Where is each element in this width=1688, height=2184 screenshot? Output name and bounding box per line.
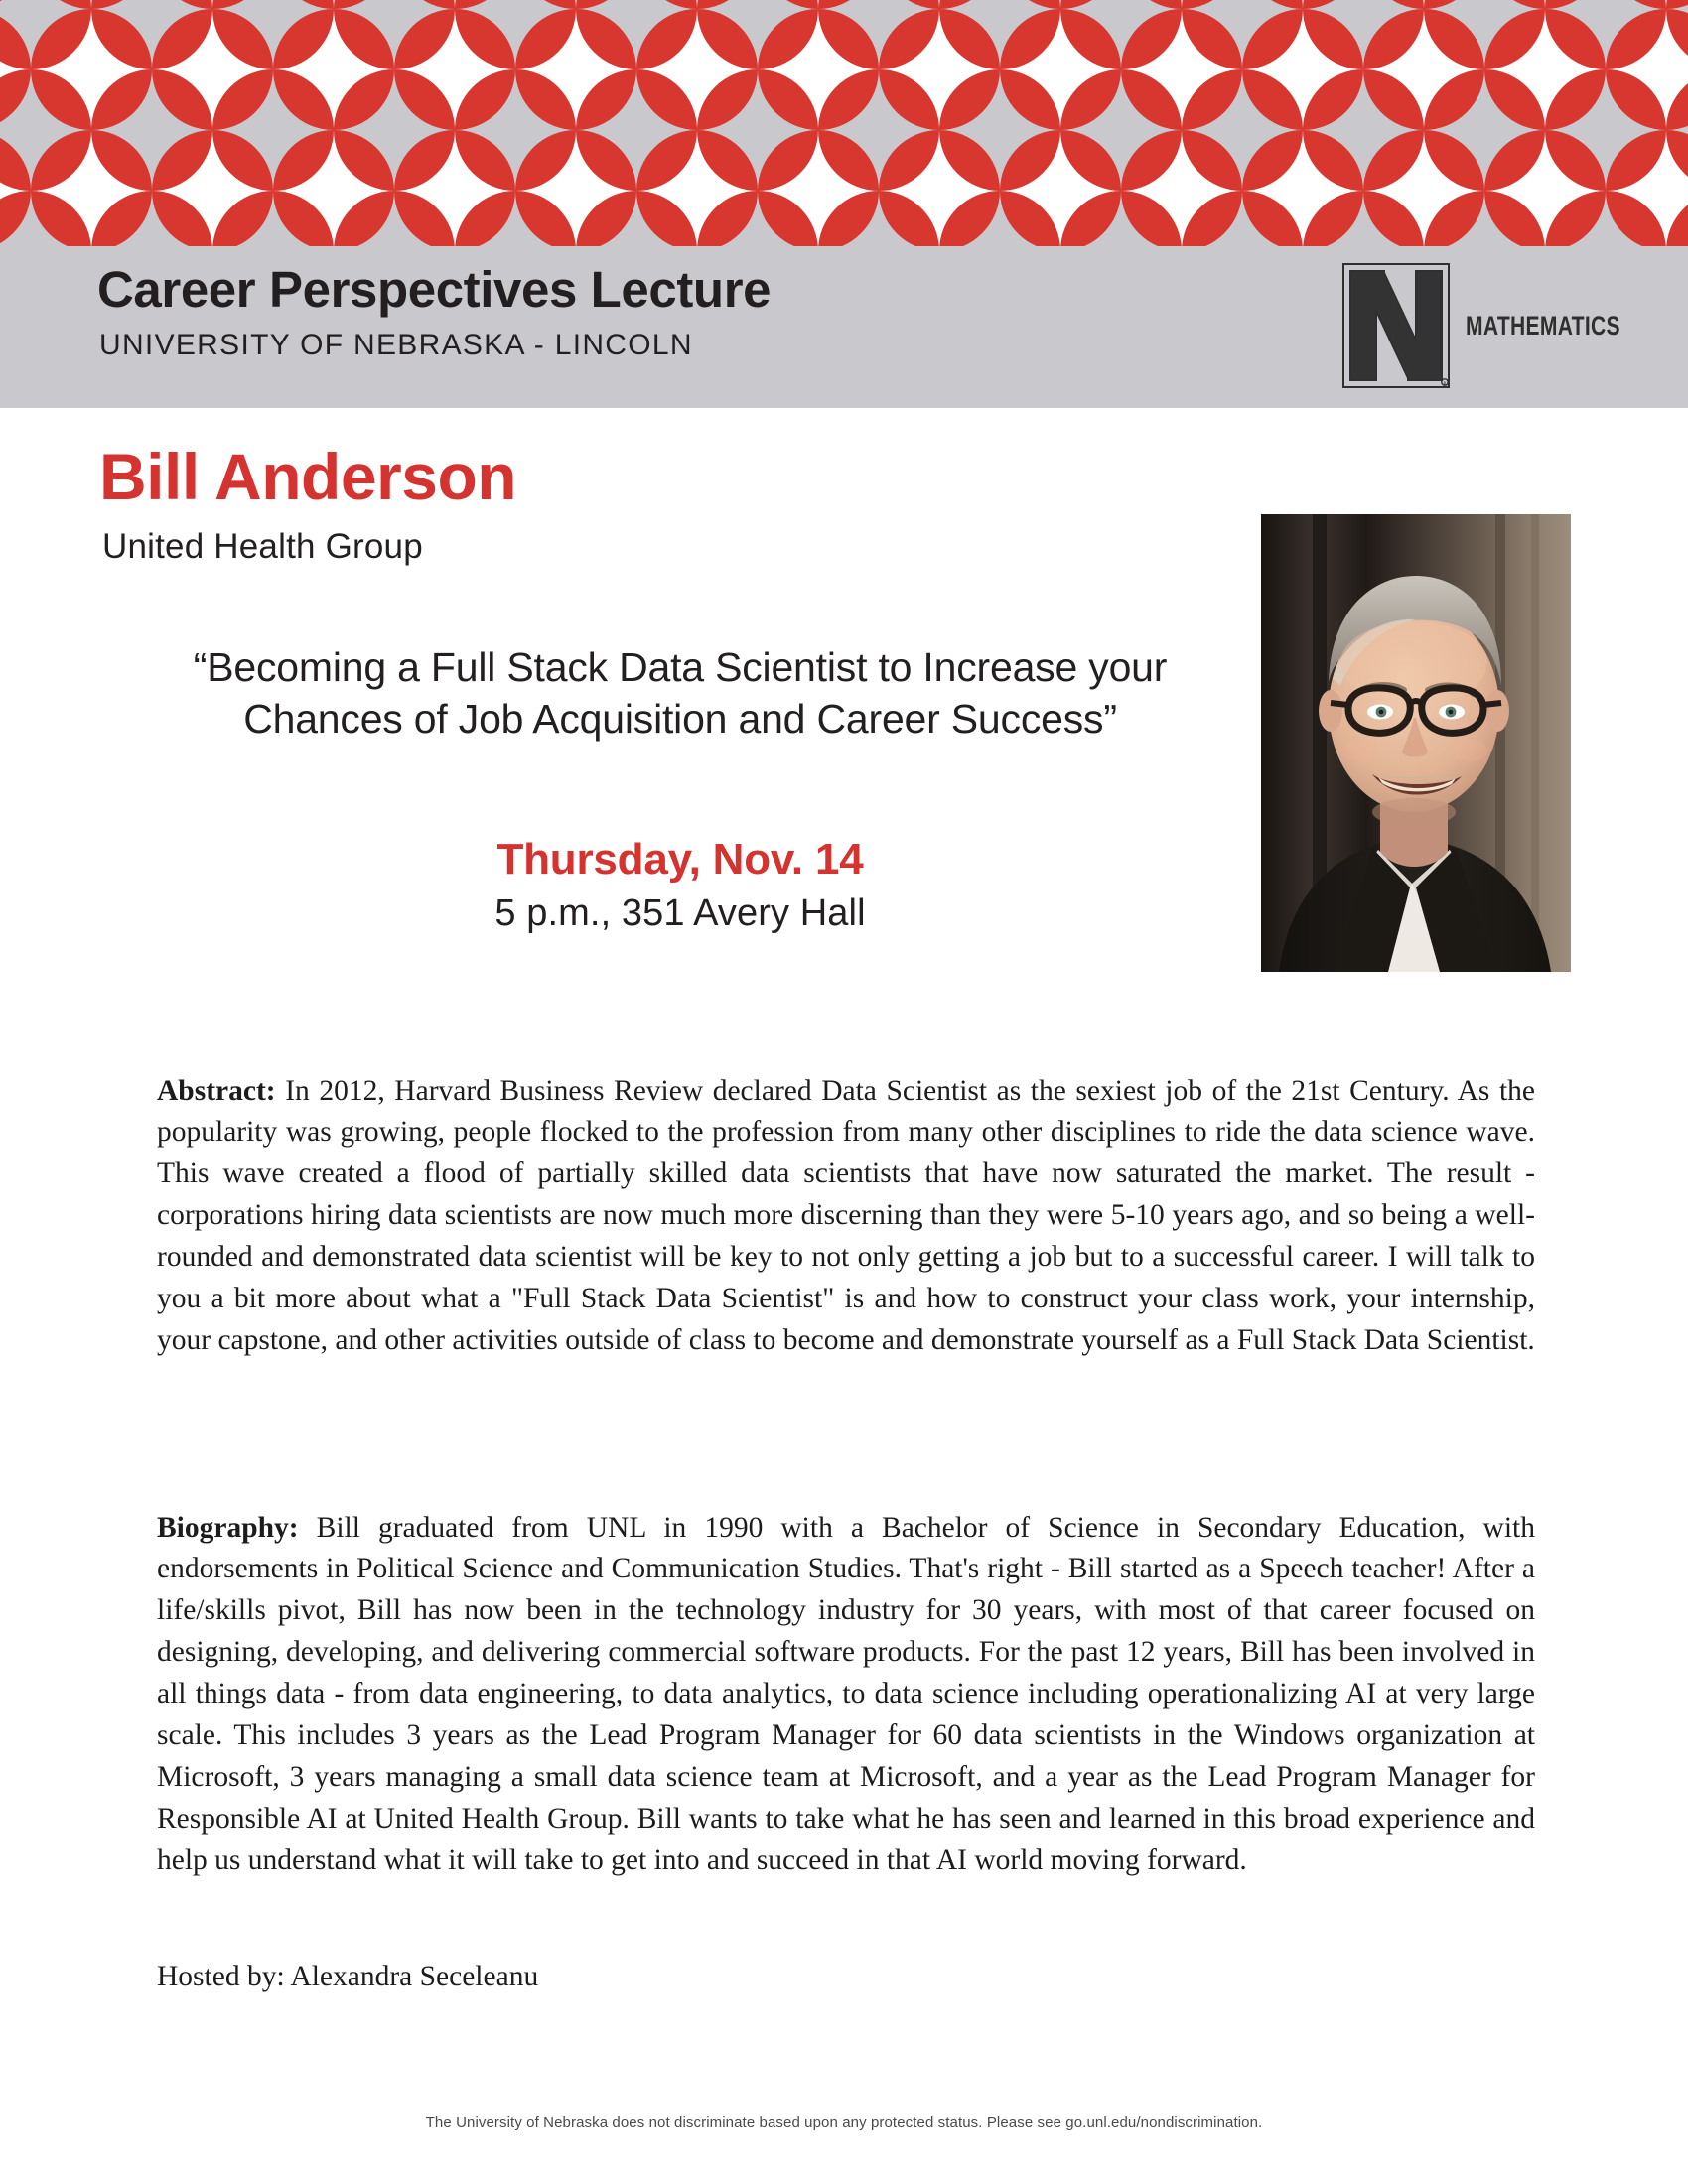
talk-title: “Becoming a Full Stack Data Scientist to… — [129, 641, 1231, 746]
biography-text: Bill graduated from UNL in 1990 with a B… — [157, 1512, 1535, 1876]
nondiscrimination-disclaimer: The University of Nebraska does not disc… — [0, 2115, 1688, 2131]
host-line: Hosted by: Alexandra Seceleanu — [157, 1957, 538, 1998]
nebraska-n-icon: R — [1342, 263, 1450, 388]
circle-lattice-pattern — [0, 0, 1688, 246]
event-time-location: 5 p.m., 351 Avery Hall — [129, 892, 1231, 935]
event-date: Thursday, Nov. 14 — [129, 835, 1231, 885]
biography-paragraph: Biography: Bill graduated from UNL in 19… — [157, 1508, 1535, 1882]
speaker-name: Bill Anderson — [99, 443, 1152, 511]
unl-math-logo: R MATHEMATICS — [1342, 263, 1664, 388]
speaker-affiliation: United Health Group — [102, 527, 1152, 567]
abstract-label: Abstract: — [157, 1075, 276, 1107]
speaker-portrait-image — [1261, 514, 1571, 972]
page-title: Career Perspectives Lecture — [97, 263, 771, 317]
header-band: Career Perspectives Lecture UNIVERSITY O… — [0, 246, 1688, 408]
speaker-block: Bill Anderson United Health Group — [99, 443, 1152, 567]
decorative-pattern-band — [0, 0, 1688, 246]
abstract-text: In 2012, Harvard Business Review declare… — [157, 1075, 1535, 1356]
institution-name: UNIVERSITY OF NEBRASKA - LINCOLN — [99, 329, 771, 362]
biography-label: Biography: — [157, 1512, 299, 1544]
header-text-block: Career Perspectives Lecture UNIVERSITY O… — [97, 263, 771, 362]
abstract-paragraph: Abstract: In 2012, Harvard Business Revi… — [157, 1071, 1535, 1362]
logo-department-label: MATHEMATICS — [1466, 311, 1620, 341]
speaker-photo — [1261, 514, 1571, 972]
